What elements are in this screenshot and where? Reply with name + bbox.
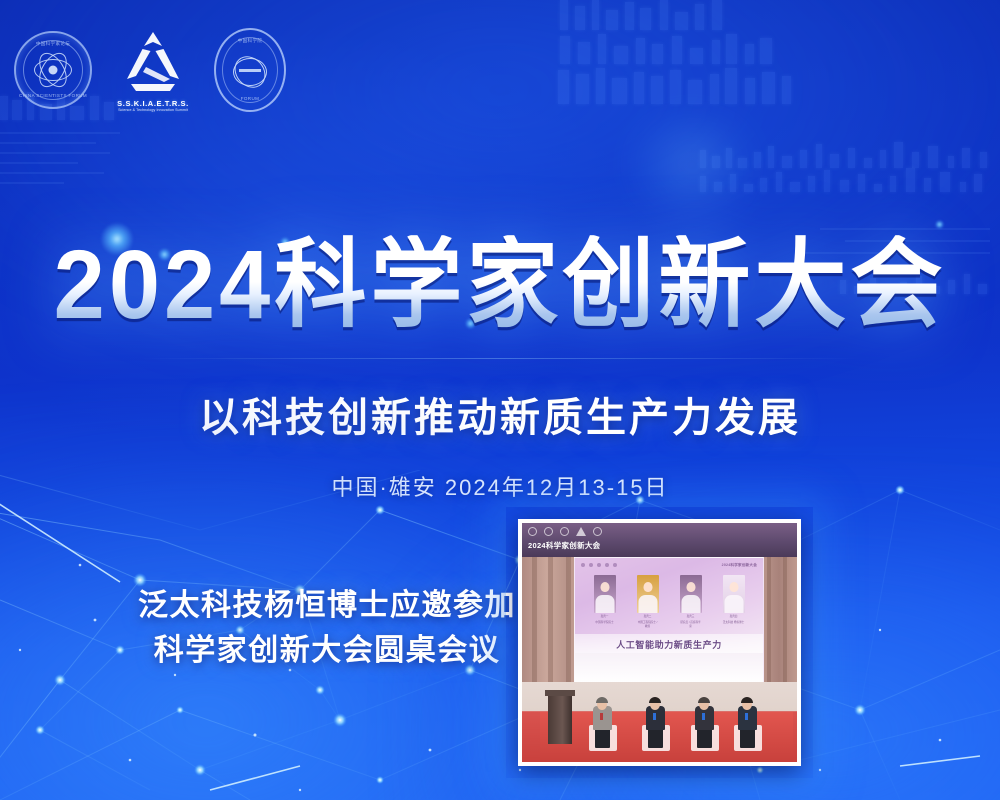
banner-title: 2024科学家创新大会: [528, 540, 600, 551]
speaker-affiliation: 泛太科技 杨恒博士: [723, 621, 745, 625]
speaker-affiliation: 研究员 / 首席科学家: [680, 621, 702, 629]
light-flare-7: [612, 120, 772, 210]
circular-academy-seal-icon: 中国科学家论坛 CHINA SCIENTISTS FORUM: [14, 31, 92, 109]
atom-icon: [34, 53, 72, 87]
oval-emblem-core: [230, 53, 270, 91]
screen-session-title: 人工智能助力新质生产力: [575, 638, 763, 651]
oval-bottom-text: FORUM: [216, 96, 284, 101]
screen-lower-area: [575, 653, 763, 683]
page-title: 2024科学家创新大会: [54, 235, 947, 336]
event-caption: 泛太科技杨恒博士应邀参加 科学家创新大会圆桌会议: [132, 583, 522, 673]
oval-top-text: 中国科学院: [216, 38, 284, 44]
stage-projection-screen: 2024科学家创新大会 嘉宾一 中国科学院院士 嘉宾二 中国工程院院士 / 教授: [574, 557, 764, 684]
sponsor-logo-bar: 中国科学家论坛 CHINA SCIENTISTS FORUM S.S.K.I.A…: [14, 28, 286, 112]
speaker-card: 嘉宾二 中国工程院院士 / 教授: [637, 575, 659, 629]
triangle-emblem-text: S.S.K.I.A.E.T.R.S. Science & Technology …: [114, 99, 192, 112]
caption-line-1: 泛太科技杨恒博士应邀参加: [132, 583, 522, 628]
speaker-name: 嘉宾一: [594, 615, 616, 619]
banner-circle-icon-3: [560, 527, 569, 536]
seal-bottom-text: CHINA SCIENTISTS FORUM: [16, 93, 90, 98]
speaker-name: 嘉宾三: [680, 615, 702, 619]
speaker-portrait: [680, 575, 702, 613]
screen-logo-dots: [581, 563, 617, 567]
speaker-name: 嘉宾四: [723, 615, 745, 619]
triangle-emblem-icon: S.S.K.I.A.E.T.R.S. Science & Technology …: [114, 29, 192, 111]
poster-canvas: 中国科学家论坛 CHINA SCIENTISTS FORUM S.S.K.I.A…: [0, 0, 1000, 800]
oval-institute-seal-icon: 中国科学院 FORUM: [214, 28, 286, 112]
speaker-card: 嘉宾一 中国科学院院士: [594, 575, 616, 625]
banner-circle-icon-1: [528, 527, 537, 536]
main-title-block: 2024科学家创新大会: [0, 238, 1000, 334]
screen-brand-text: 2024科学家创新大会: [722, 563, 757, 568]
photo-top-banner: 2024科学家创新大会: [522, 523, 797, 557]
speaker-affiliation: 中国科学院院士: [594, 621, 616, 625]
event-photo[interactable]: 2024科学家创新大会 2024科学家创新大会 嘉宾一 中国科学院院士: [518, 519, 801, 766]
speaker-card: 嘉宾三 研究员 / 首席科学家: [680, 575, 702, 629]
caption-line-2: 科学家创新大会圆桌会议: [132, 628, 522, 673]
speaker-name: 嘉宾二: [637, 615, 659, 619]
banner-circle-icon-2: [544, 527, 553, 536]
speaker-portrait: [723, 575, 745, 613]
banner-icon-row: [528, 527, 602, 536]
seal-top-text: 中国科学家论坛: [16, 41, 90, 47]
podium: [548, 694, 572, 744]
speaker-portrait: [637, 575, 659, 613]
triangle-emblem-subtext: Science & Technology Innovation Summit: [114, 108, 192, 112]
speaker-portrait-row: 嘉宾一 中国科学院院士 嘉宾二 中国工程院院士 / 教授 嘉宾三 研究员 / 首…: [583, 575, 755, 633]
banner-circle-icon-4: [593, 527, 602, 536]
title-underline-glow: [140, 358, 860, 359]
light-flare-6: [935, 220, 944, 229]
banner-triangle-icon: [576, 527, 586, 536]
event-photo-image: 2024科学家创新大会 2024科学家创新大会 嘉宾一 中国科学院院士: [522, 523, 797, 762]
speaker-portrait: [594, 575, 616, 613]
screen-header: 2024科学家创新大会: [575, 558, 763, 572]
speaker-card: 嘉宾四 泛太科技 杨恒博士: [723, 575, 745, 625]
speaker-affiliation: 中国工程院院士 / 教授: [637, 621, 659, 629]
